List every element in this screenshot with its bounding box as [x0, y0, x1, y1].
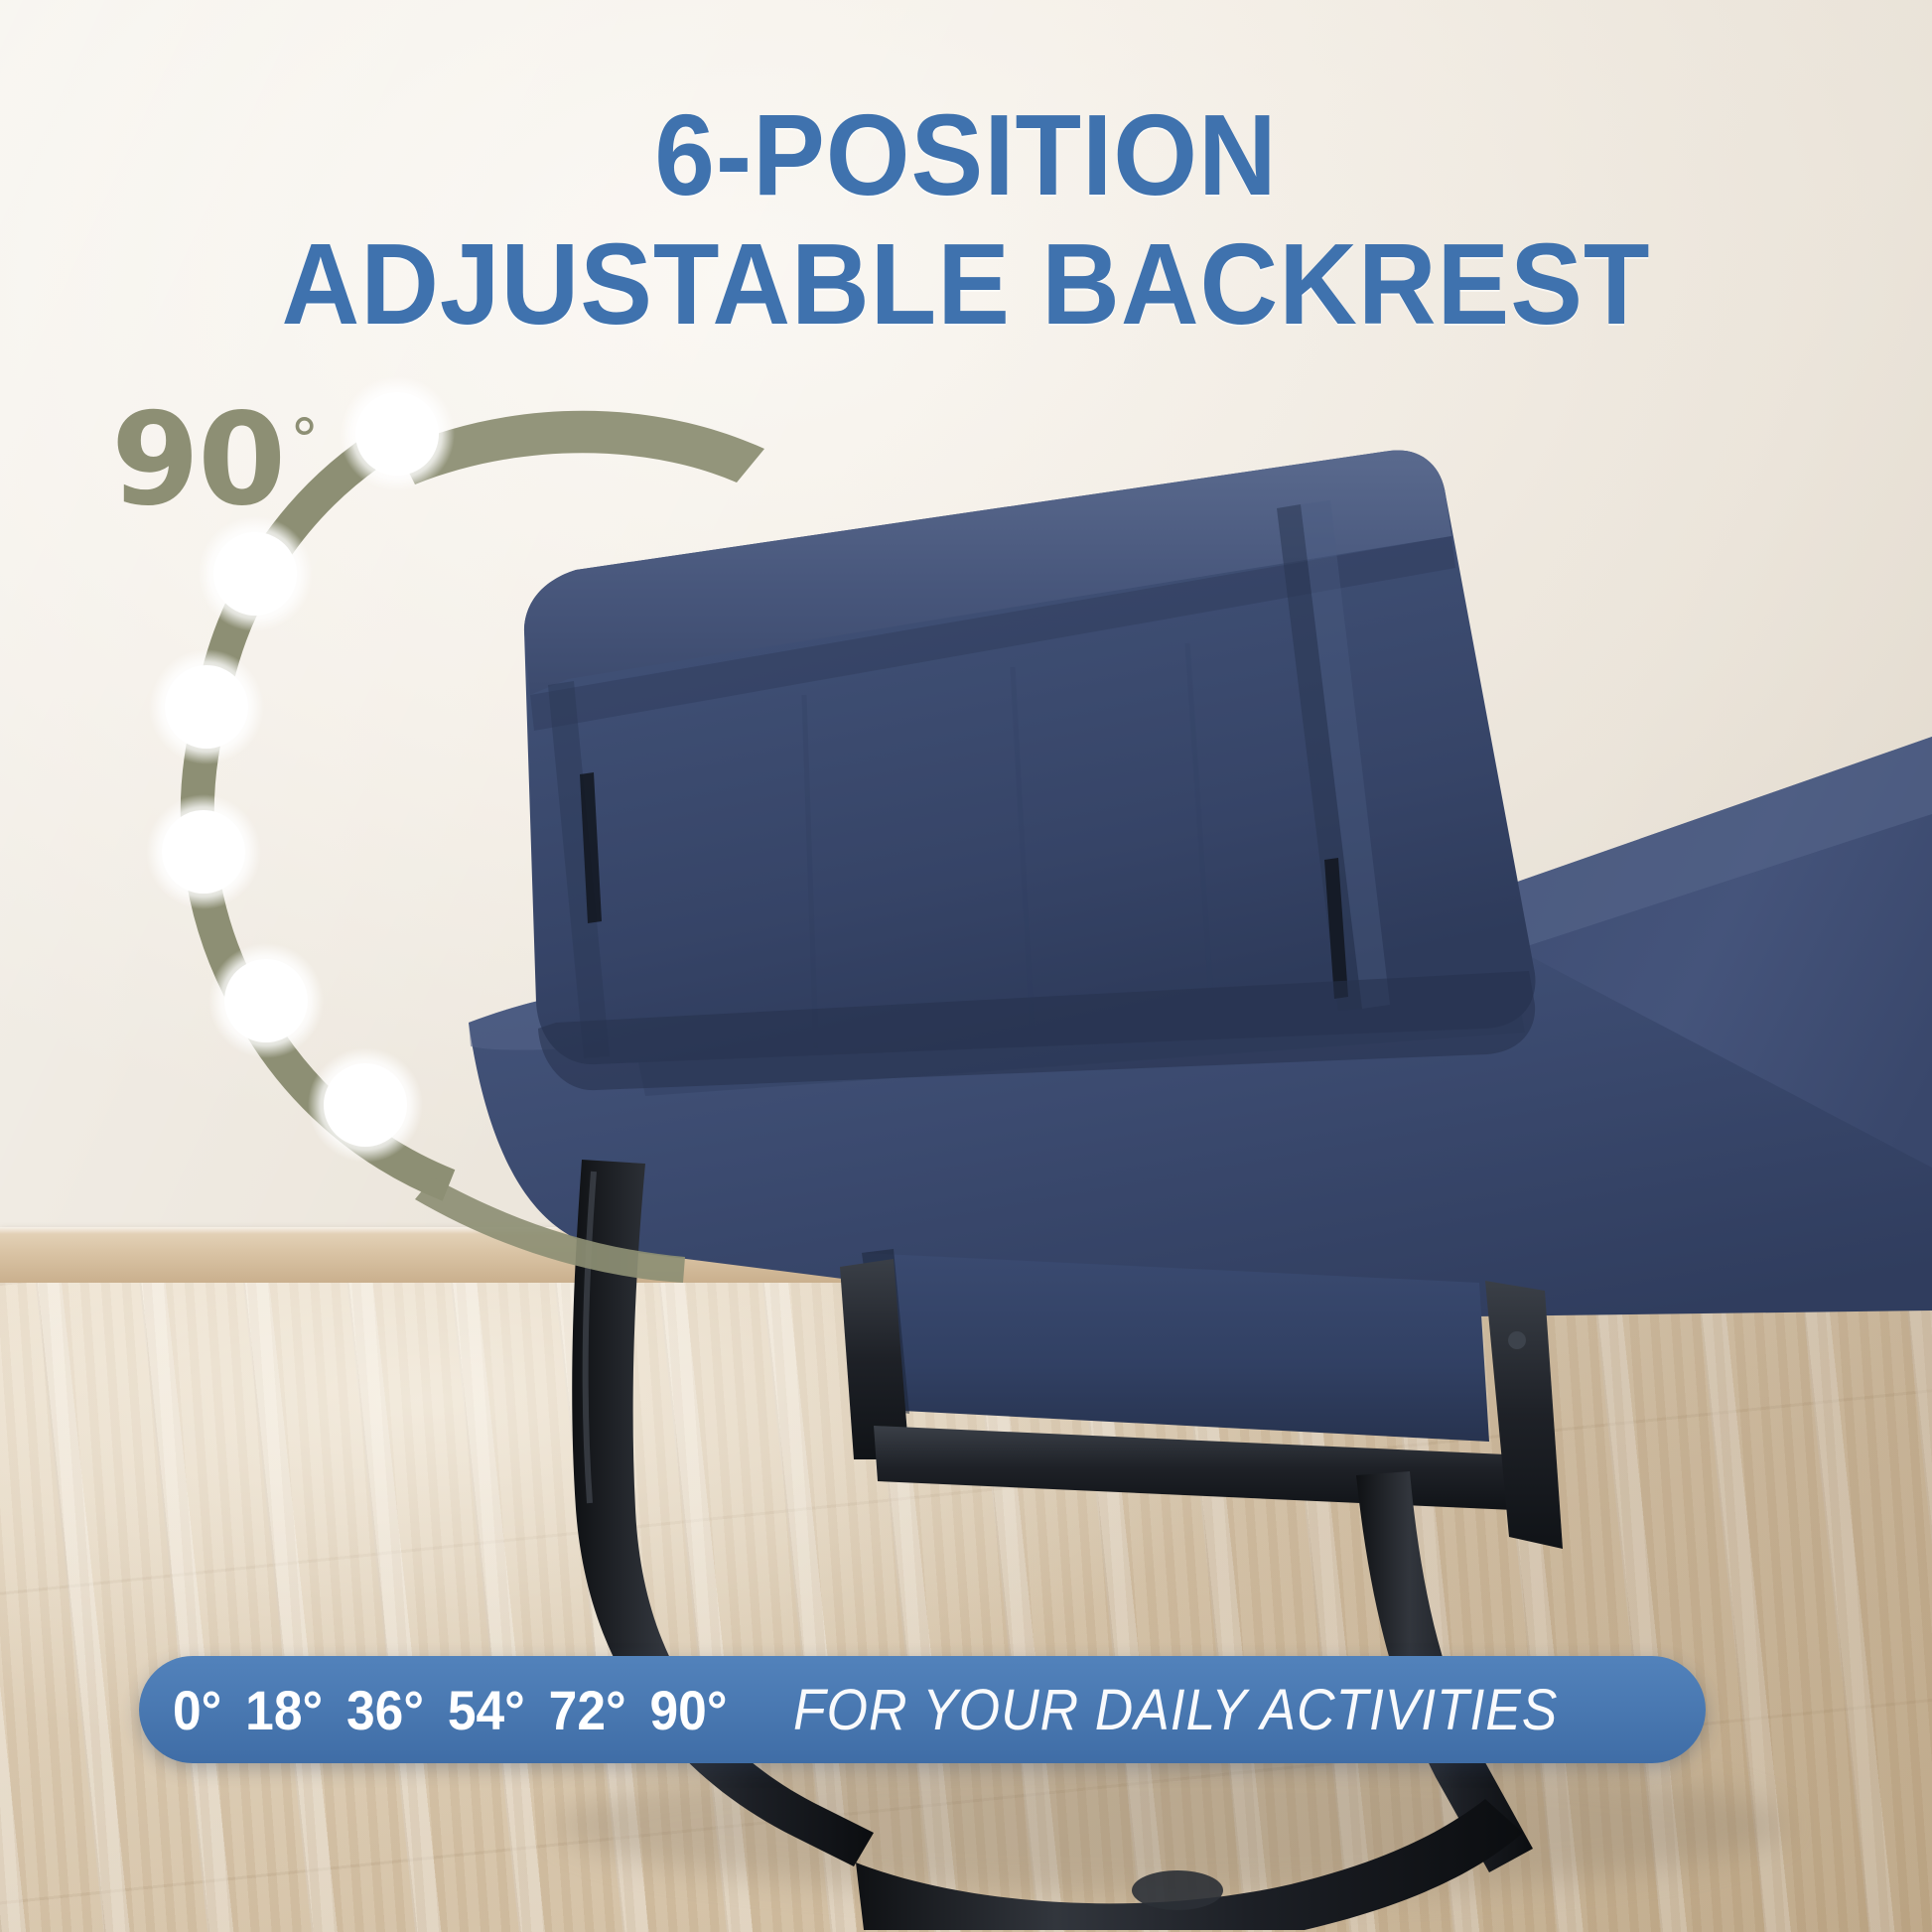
banner-tagline: FOR YOUR DAILY ACTIVITIES — [793, 1677, 1558, 1743]
arc-tail-lower — [415, 1177, 685, 1283]
angle-list: 0° 18° 36° 54° 72° 90° — [173, 1678, 727, 1742]
arc-dot-5 — [208, 943, 324, 1058]
degree-symbol-icon: ° — [290, 406, 317, 474]
angle-value-72: 72° — [549, 1678, 626, 1742]
angle-value-0: 0° — [173, 1678, 221, 1742]
arc-dot-3 — [149, 649, 264, 764]
angle-value-54: 54° — [448, 1678, 525, 1742]
headline: 6-POSITION ADJUSTABLE BACKREST — [0, 95, 1932, 345]
angle-value-36: 36° — [346, 1678, 424, 1742]
angle-callout: 90° — [111, 397, 317, 524]
arc-dot-6 — [308, 1047, 423, 1163]
arc-dot-1 — [340, 376, 455, 491]
headline-line-2: ADJUSTABLE BACKREST — [58, 224, 1873, 345]
angle-callout-value: 90 — [111, 386, 284, 534]
angle-value-18: 18° — [245, 1678, 323, 1742]
product-marketing-image: 90° 6-POSITION ADJUSTABLE BACKREST 0° 18… — [0, 0, 1932, 1932]
angles-banner: 0° 18° 36° 54° 72° 90° FOR YOUR DAILY AC… — [139, 1656, 1706, 1763]
angle-value-90: 90° — [650, 1678, 728, 1742]
arc-dot-4 — [146, 794, 261, 909]
headline-line-1: 6-POSITION — [58, 95, 1873, 216]
